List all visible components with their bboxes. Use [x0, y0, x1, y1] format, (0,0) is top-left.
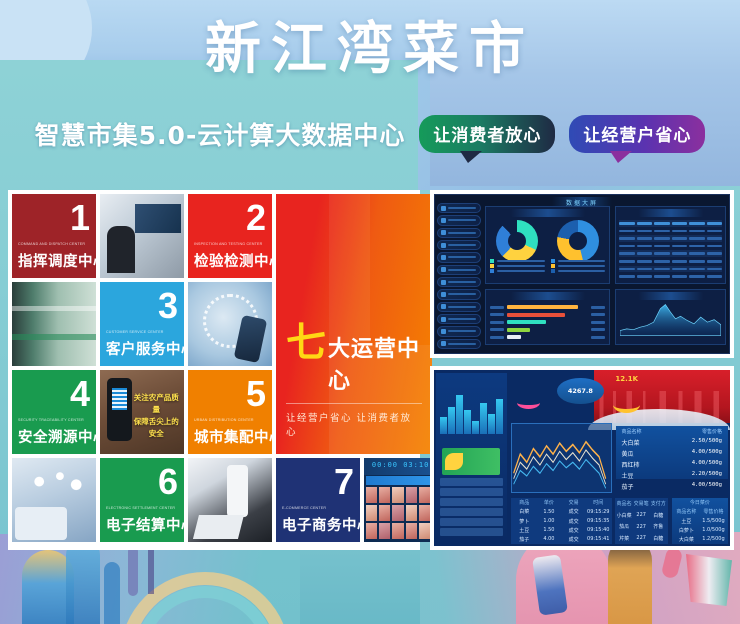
table-cell: [654, 252, 669, 255]
ecom-product-thumb: [379, 523, 390, 539]
center-number-2: 2: [246, 200, 266, 236]
td: 09:15:35: [587, 518, 610, 524]
sidebar-item[interactable]: [437, 240, 481, 250]
td: 1.0/500g: [701, 527, 726, 533]
center-en-5: URBAN DISTRIBUTION CENTER: [194, 418, 266, 423]
card-header-bar: [511, 292, 585, 300]
legend-label: [497, 265, 545, 267]
legend-label: [558, 270, 606, 272]
sidebar-item-label: [448, 269, 476, 271]
th: 单价: [538, 499, 561, 506]
table-cell: [637, 268, 652, 271]
table-cell: [654, 230, 669, 233]
quote-table-header: 商品名称零售价格: [672, 507, 728, 516]
table-cell: [637, 260, 652, 263]
left-row-list: [440, 478, 503, 536]
feature-number: 七: [286, 324, 326, 362]
kpi-row: 4267.8 12.1K: [511, 375, 647, 417]
bar-list: [490, 303, 605, 341]
td: 09:15:29: [587, 509, 610, 515]
table-cell: [672, 260, 687, 263]
bar-fill: [507, 328, 530, 332]
legend-label: [497, 260, 545, 262]
table-cell: [672, 268, 687, 271]
legend-label: [497, 270, 545, 272]
sidebar-item-label: [448, 244, 476, 246]
td: 成交: [562, 536, 585, 543]
center-number-7: 7: [334, 464, 354, 500]
sidebar-item-label: [448, 219, 476, 221]
bg-figure-left-5: [148, 546, 154, 594]
table-header-row: [619, 220, 722, 227]
centers-grid: 1 COMMAND AND DISPATCH CENTER 指挥调度中心 2 I…: [12, 194, 416, 546]
center-tile-2[interactable]: 2 INSPECTION AND TESTING CENTER 检验检测中心: [188, 194, 272, 278]
trend-line-blue: [514, 459, 606, 488]
sidebar-item[interactable]: [437, 339, 481, 349]
td: 白糖: [651, 535, 666, 542]
legend-entry: [551, 259, 606, 263]
header: 新江湾菜市 智慧市集5.0-云计算大数据中心 让消费者放心 让经营户省心: [0, 0, 740, 186]
bar-row-value: [591, 306, 605, 309]
page-title: 新江湾菜市: [0, 14, 740, 84]
table-cell: [672, 245, 687, 248]
td: 1.50: [538, 509, 561, 515]
detail-table-row: 土豆1.50成交09:15:40: [511, 526, 612, 535]
sidebar-item[interactable]: [437, 277, 481, 287]
table-cell: [707, 245, 722, 248]
table-row: [619, 228, 722, 235]
center-number-5: 5: [246, 376, 266, 412]
sidebar-item-icon: [441, 280, 446, 285]
td: 土豆: [674, 518, 699, 525]
td: 09:15:40: [587, 527, 610, 533]
grid-cell: 7 E-COMMERCE CENTER 电子商务中心 00:00 03:10: [276, 458, 432, 542]
sidebar-item-label: [448, 207, 476, 209]
table-cell: [619, 237, 634, 240]
sidebar-item-icon: [441, 329, 446, 334]
sidebar-item[interactable]: [437, 228, 481, 238]
price-item-name: 茄子: [622, 482, 634, 491]
table-cell: [654, 237, 669, 240]
card-traffic-area-chart: [615, 289, 726, 345]
table-row: [619, 258, 722, 265]
bar-fill: [507, 313, 565, 317]
mini-bar: [488, 414, 495, 434]
td: 成交: [562, 527, 585, 534]
detail-table-left: 商品单价交易时间 白菜1.50成交09:15:29 萝卜1.00成交09:15:…: [511, 498, 612, 544]
feature-subtitle: 让经营户省心 让消费者放心: [286, 403, 422, 438]
td: 1.00: [538, 518, 561, 524]
center-tile-7[interactable]: 7 E-COMMERCE CENTER 电子商务中心: [276, 458, 360, 542]
left-row: [440, 518, 503, 526]
td: 1.5/500g: [701, 518, 726, 524]
center-en-6: ELECTRONIC SETTLEMENT CENTER: [106, 506, 178, 511]
price-list-panel: 商品名称 零售价格 大白菜 2.50/500g 黄瓜 4.00/500g 西红柿…: [616, 426, 728, 479]
table-cell: [637, 222, 652, 225]
dashboard-screen-2: 4267.8 12.1K 商品名称 零售价格 大白菜 2.50/500g: [434, 370, 730, 546]
bar-fill: [507, 305, 578, 309]
th: 交易: [562, 499, 585, 506]
mini-bar: [472, 421, 479, 434]
sidebar-item-icon: [441, 267, 446, 272]
legend-swatch: [490, 264, 494, 268]
photo-command-room: [100, 194, 184, 278]
center-en-7: E-COMMERCE CENTER: [282, 506, 354, 511]
center-cn-5: 城市集配中心: [194, 426, 266, 447]
ecom-product-thumb: [419, 487, 430, 503]
quote-table-row: 白萝卜1.0/500g: [672, 526, 728, 535]
dashboard-main-area: [485, 206, 726, 345]
sidebar-item-label: [448, 343, 476, 345]
table-row: [619, 250, 722, 257]
mid-table-row: 小白菜227白糖: [615, 510, 668, 521]
left-row: [440, 498, 503, 506]
badge-merchant: 让经营户省心: [569, 115, 705, 153]
grid-cell: [188, 458, 272, 542]
mid-table-row: 茄瓜227齐鲁: [615, 521, 668, 532]
dashboard-screen-1: 数据大屏: [434, 194, 730, 354]
ecom-product-thumb: [392, 523, 403, 539]
price-row: 西红柿 4.00/500g: [616, 459, 728, 470]
price-row: 黄瓜 4.00/500g: [616, 448, 728, 459]
page-subtitle: 智慧市集5.0-云计算大数据中心: [35, 116, 406, 152]
price-item-name: 黄瓜: [622, 449, 634, 458]
trend-chart-svg: [512, 424, 611, 492]
photo-iot-phone: [188, 282, 272, 366]
table-cell: [689, 245, 704, 248]
center-en-3: CUSTOMER SERVICE CENTER: [106, 330, 178, 335]
kpi-left-gauge: [514, 383, 547, 415]
ecom-product-thumb: [392, 505, 403, 521]
table-cell: [689, 275, 704, 278]
sidebar-item[interactable]: [437, 265, 481, 275]
grid-cell: [12, 282, 96, 366]
kpi-smile-yellow: [613, 396, 641, 413]
card-header-bar: [638, 209, 703, 217]
td: 萝卜: [513, 518, 536, 525]
price-row: 土豆 2.20/500g: [616, 470, 728, 481]
sidebar-item[interactable]: [437, 289, 481, 299]
detail-table-row: 萝卜1.00成交09:15:35: [511, 517, 612, 526]
center-cn-3: 客户服务中心: [106, 338, 178, 359]
td: 成交: [562, 518, 585, 525]
mini-bar: [440, 417, 447, 435]
grid-cell: [12, 458, 96, 542]
photo-qr-caption: 关注农产品质量 保障舌尖上的安全: [132, 392, 181, 440]
mid-table-row: 芹菜227白糖: [615, 533, 668, 544]
grid-cell: 4 SECURITY TRACEABILITY CENTER 安全溯源中心: [12, 370, 96, 454]
sidebar-item-label: [448, 256, 476, 258]
table-cell: [707, 252, 722, 255]
dashboard-bottom-panel: 4267.8 12.1K 商品名称 零售价格 大白菜 2.50/500g: [430, 366, 734, 550]
td: 小白菜: [617, 512, 632, 519]
subtitle-row: 智慧市集5.0-云计算大数据中心 让消费者放心 让经营户省心: [0, 110, 740, 158]
left-row: [440, 478, 503, 486]
center-number-3: 3: [158, 288, 178, 324]
ecom-digits: 00:00 03:10: [372, 461, 429, 469]
qr-caption-line1: 关注农产品质量: [132, 392, 181, 416]
mini-bar: [496, 399, 503, 434]
detail-table-row: 白菜1.50成交09:15:29: [511, 507, 612, 516]
kpi-right-block: 12.1K: [609, 375, 644, 417]
bg-figure-left-4: [128, 546, 138, 596]
sidebar-item-label: [448, 306, 476, 308]
sidebar-item-icon: [441, 218, 446, 223]
legend-entry: [490, 264, 545, 268]
feature-band-1: [329, 194, 370, 345]
center-tile-6[interactable]: 6 ELECTRONIC SETTLEMENT CENTER 电子结算中心: [100, 458, 184, 542]
ecom-product-thumb: [366, 487, 377, 503]
table-cell: [689, 230, 704, 233]
bg-figure-left-2: [66, 538, 100, 624]
table-row: [619, 273, 722, 280]
price-row: 茄子 4.00/500g: [616, 481, 728, 492]
legend-entry: [551, 264, 606, 268]
sidebar-item-icon: [441, 243, 446, 248]
mini-bar-chart: [440, 390, 503, 434]
bar-row: [490, 320, 605, 324]
left-stats-column: [436, 373, 507, 543]
legend-entry: [490, 259, 545, 263]
ecom-product-thumb: [366, 523, 377, 539]
table-cell: [637, 230, 652, 233]
table-cell: [637, 252, 652, 255]
mid-table: 商品名称交易笔数支付方式 小白菜227白糖 茄瓜227齐鲁 芹菜227白糖: [615, 498, 668, 544]
grid-cell: 关注农产品质量 保障舌尖上的安全: [100, 370, 184, 454]
bar-row-label: [490, 306, 504, 309]
sidebar-item[interactable]: [437, 326, 481, 336]
table-cell: [707, 260, 722, 263]
detail-table-middle: 商品名称交易笔数支付方式 小白菜227白糖 茄瓜227齐鲁 芹菜227白糖: [615, 498, 668, 544]
card-transaction-table: [615, 206, 726, 284]
table-cell: [654, 222, 669, 225]
data-table: [619, 220, 722, 280]
td: 227: [634, 535, 649, 541]
center-number-1: 1: [70, 200, 90, 236]
feature-title: 七 大运营中心: [286, 324, 422, 395]
sidebar-item[interactable]: [437, 302, 481, 312]
table-row: [619, 235, 722, 242]
legend-swatch: [551, 264, 555, 268]
left-row: [440, 508, 503, 516]
center-number-4: 4: [70, 376, 90, 412]
table-cell: [619, 245, 634, 248]
bar-fill: [507, 320, 546, 324]
quote-table-title: 今日菜价: [672, 498, 728, 507]
mini-bar: [480, 403, 487, 434]
bar-row-value: [591, 313, 605, 316]
detail-table: 商品单价交易时间 白菜1.50成交09:15:29 萝卜1.00成交09:15:…: [511, 498, 612, 544]
detail-table-row: 茄子4.00成交09:15:41: [511, 535, 612, 544]
sidebar-item[interactable]: [437, 252, 481, 262]
td: 土豆: [513, 527, 536, 534]
ecom-product-thumb: [392, 487, 403, 503]
sidebar-item-label: [448, 232, 476, 234]
center-tile-3[interactable]: 3 CUSTOMER SERVICE CENTER 客户服务中心: [100, 282, 184, 366]
table-cell: [672, 275, 687, 278]
td: 白糖: [651, 512, 666, 519]
center-en-1: COMMAND AND DISPATCH CENTER: [18, 242, 90, 247]
badge-consumer: 让消费者放心: [419, 115, 555, 153]
photo-pos-terminal: [188, 458, 272, 542]
qr-caption-line2: 保障舌尖上的安全: [132, 416, 181, 440]
grid-cell: [100, 194, 184, 278]
bg-figure-left-3: [104, 562, 120, 624]
table-cell: [654, 260, 669, 263]
sidebar-item-label: [448, 330, 476, 332]
th: 商品名称: [617, 500, 632, 507]
legend-swatch: [551, 269, 555, 273]
table-cell: [707, 275, 722, 278]
table-cell: [654, 245, 669, 248]
card-header-bar: [511, 209, 585, 217]
table-cell: [619, 222, 634, 225]
bar-row-value: [591, 328, 605, 331]
price-item-value: 4.00/500g: [692, 482, 722, 491]
sidebar-item-label: [448, 318, 476, 320]
table-cell: [689, 260, 704, 263]
table-cell: [689, 222, 704, 225]
center-tile-5[interactable]: 5 URBAN DISTRIBUTION CENTER 城市集配中心: [188, 370, 272, 454]
table-cell: [619, 268, 634, 271]
photo-market-shelf: [12, 282, 96, 366]
table-cell: [707, 237, 722, 240]
center-en-4: SECURITY TRACEABILITY CENTER: [18, 418, 90, 423]
dashboard-sidebar: [437, 203, 481, 349]
grid-cell: 1 COMMAND AND DISPATCH CENTER 指挥调度中心: [12, 194, 96, 278]
td: 09:15:41: [587, 536, 610, 542]
mini-bar: [464, 410, 471, 434]
legend-entry: [490, 269, 545, 273]
bar-row-label: [490, 328, 504, 331]
grid-cell: 2 INSPECTION AND TESTING CENTER 检验检测中心: [188, 194, 272, 278]
grid-cell: [188, 282, 272, 366]
left-row: [440, 488, 503, 496]
ecom-product-thumb: [406, 505, 417, 521]
th: 商品: [513, 499, 536, 506]
dashboard-top-panel: 数据大屏: [430, 190, 734, 358]
td: 芹菜: [617, 535, 632, 542]
sidebar-item[interactable]: [437, 203, 481, 213]
center-cn-7: 电子商务中心: [282, 514, 354, 535]
mid-table-header: 商品名称交易笔数支付方式: [615, 498, 668, 509]
sidebar-item[interactable]: [437, 314, 481, 324]
td: 4.00: [538, 536, 561, 542]
bar-row-value: [591, 336, 605, 339]
area-chart-path: [620, 305, 721, 336]
photo-qr-traceability: 关注农产品质量 保障舌尖上的安全: [100, 370, 184, 454]
table-cell: [707, 230, 722, 233]
price-list-header: 商品名称 零售价格: [616, 426, 728, 437]
legend-entry: [551, 269, 606, 273]
kpi-smile-pink: [517, 396, 541, 409]
td: 227: [634, 512, 649, 518]
legend-swatch: [490, 269, 494, 273]
sidebar-item-icon: [441, 304, 446, 309]
center-tile-1[interactable]: 1 COMMAND AND DISPATCH CENTER 指挥调度中心: [12, 194, 96, 278]
quote-table-row: 大白菜1.2/500g: [672, 535, 728, 544]
price-row: 大白菜 2.50/500g: [616, 437, 728, 448]
td: 茄子: [513, 536, 536, 543]
ecom-product-thumb: [406, 523, 417, 539]
trend-line-white: [514, 450, 606, 484]
seven-centers-feature: 七 大运营中心 让经营户省心 让消费者放心: [276, 194, 432, 454]
price-item-value: 4.00/500g: [692, 449, 722, 458]
table-cell: [619, 260, 634, 263]
sidebar-item-icon: [441, 292, 446, 297]
table-cell: [637, 237, 652, 240]
market-logo: [442, 448, 500, 475]
td: 成交: [562, 508, 585, 515]
grid-cell: 5 URBAN DISTRIBUTION CENTER 城市集配中心: [188, 370, 272, 454]
price-col-value: 零售价格: [702, 428, 722, 435]
center-en-2: INSPECTION AND TESTING CENTER: [194, 242, 266, 247]
td: 227: [634, 524, 649, 530]
bar-row: [490, 328, 605, 332]
td: 1.50: [538, 527, 561, 533]
ecom-product-thumb: [379, 505, 390, 521]
td: 大白菜: [674, 536, 699, 543]
center-cn-4: 安全溯源中心: [18, 426, 90, 447]
feature-title-rest: 大运营中心: [328, 331, 422, 395]
card-market-overview: [485, 206, 610, 284]
ecom-product-thumb: [406, 487, 417, 503]
price-col-name: 商品名称: [622, 428, 642, 435]
bar-row: [490, 313, 605, 317]
th: 商品名称: [674, 508, 699, 515]
th: 时间: [587, 499, 610, 506]
bar-row-value: [591, 321, 605, 324]
table-cell: [619, 275, 634, 278]
kpi-right-value: 12.1K: [609, 375, 644, 383]
table-cell: [619, 230, 634, 233]
seven-centers-panel: 1 COMMAND AND DISPATCH CENTER 指挥调度中心 2 I…: [8, 190, 420, 550]
center-tile-4[interactable]: 4 SECURITY TRACEABILITY CENTER 安全溯源中心: [12, 370, 96, 454]
price-item-name: 西红柿: [622, 460, 640, 469]
bar-row: [490, 305, 605, 309]
bg-figure-right-4: [686, 554, 732, 606]
center-cn-6: 电子结算中心: [106, 514, 178, 535]
sidebar-item[interactable]: [437, 215, 481, 225]
ecom-product-thumb: [379, 487, 390, 503]
ecom-product-grid: [366, 487, 430, 539]
area-chart-svg: [620, 302, 721, 336]
table-cell: [637, 275, 652, 278]
ecom-tabs: [366, 476, 430, 484]
bg-figure-right-2: [608, 538, 652, 624]
td: 齐鲁: [651, 523, 666, 530]
price-item-name: 大白菜: [622, 438, 640, 447]
donut-legend: [490, 253, 605, 279]
td: 茄瓜: [617, 523, 632, 530]
mini-bar: [456, 395, 463, 434]
legend-swatch: [551, 259, 555, 263]
table-cell: [619, 252, 634, 255]
quote-table-row: 土豆1.5/500g: [672, 517, 728, 526]
sidebar-item-icon: [441, 341, 446, 346]
td: 1.2/500g: [701, 536, 726, 542]
bar-fill: [507, 335, 521, 339]
bar-row-label: [490, 313, 504, 316]
price-trend-chart: [511, 423, 612, 493]
sidebar-item-icon: [441, 255, 446, 260]
table-cell: [707, 222, 722, 225]
kpi-center-value: 4267.8: [557, 378, 603, 404]
photo-network-hands: [12, 458, 96, 542]
card-header-bar: [638, 292, 703, 300]
bar-row: [490, 335, 605, 339]
table-cell: [672, 222, 687, 225]
